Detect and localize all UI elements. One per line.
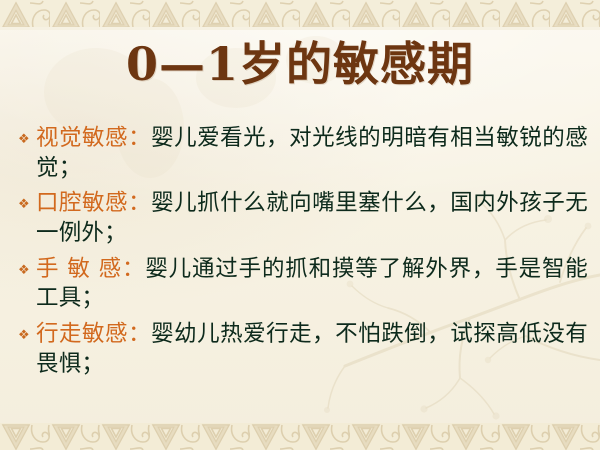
list-item-term: 视觉敏感: [36, 125, 128, 151]
diamond-bullet-icon: ❖: [18, 133, 36, 146]
list-item-separator: ：: [128, 125, 151, 151]
list-item: ❖ 手 敏 感：婴儿通过手的抓和摸等了解外界，手是智能工具；: [18, 255, 588, 314]
slide-canvas: 0—1岁的敏感期 ❖ 视觉敏感：婴儿爱看光，对光线的明暗有相当敏锐的感觉； ❖ …: [0, 0, 600, 450]
slide-title-container: 0—1岁的敏感期: [0, 40, 600, 88]
list-item-text: 视觉敏感：婴儿爱看光，对光线的明暗有相当敏锐的感觉；: [36, 124, 588, 183]
diamond-bullet-icon: ❖: [18, 198, 36, 211]
list-item-text: 口腔敏感：婴儿抓什么就向嘴里塞什么，国内外孩子无一例外；: [36, 189, 588, 248]
list-item: ❖ 视觉敏感：婴儿爱看光，对光线的明暗有相当敏锐的感觉；: [18, 124, 588, 183]
list-item: ❖ 口腔敏感：婴儿抓什么就向嘴里塞什么，国内外孩子无一例外；: [18, 189, 588, 248]
list-item-term: 手 敏 感: [36, 256, 122, 282]
sensitive-period-list: ❖ 视觉敏感：婴儿爱看光，对光线的明暗有相当敏锐的感觉； ❖ 口腔敏感：婴儿抓什…: [18, 124, 588, 386]
diamond-bullet-icon: ❖: [18, 264, 36, 277]
slide-title: 0—1岁的敏感期: [126, 40, 474, 88]
list-item-text: 手 敏 感：婴儿通过手的抓和摸等了解外界，手是智能工具；: [36, 255, 588, 314]
list-item-separator: ：: [128, 321, 151, 347]
list-item-term: 行走敏感: [36, 321, 128, 347]
list-item-separator: ：: [128, 190, 151, 216]
diamond-bullet-icon: ❖: [18, 329, 36, 342]
list-item-separator: ：: [122, 256, 145, 282]
list-item: ❖ 行走敏感：婴幼儿热爱行走，不怕跌倒，试探高低没有畏惧；: [18, 320, 588, 379]
list-item-term: 口腔敏感: [36, 190, 128, 216]
list-item-text: 行走敏感：婴幼儿热爱行走，不怕跌倒，试探高低没有畏惧；: [36, 320, 588, 379]
